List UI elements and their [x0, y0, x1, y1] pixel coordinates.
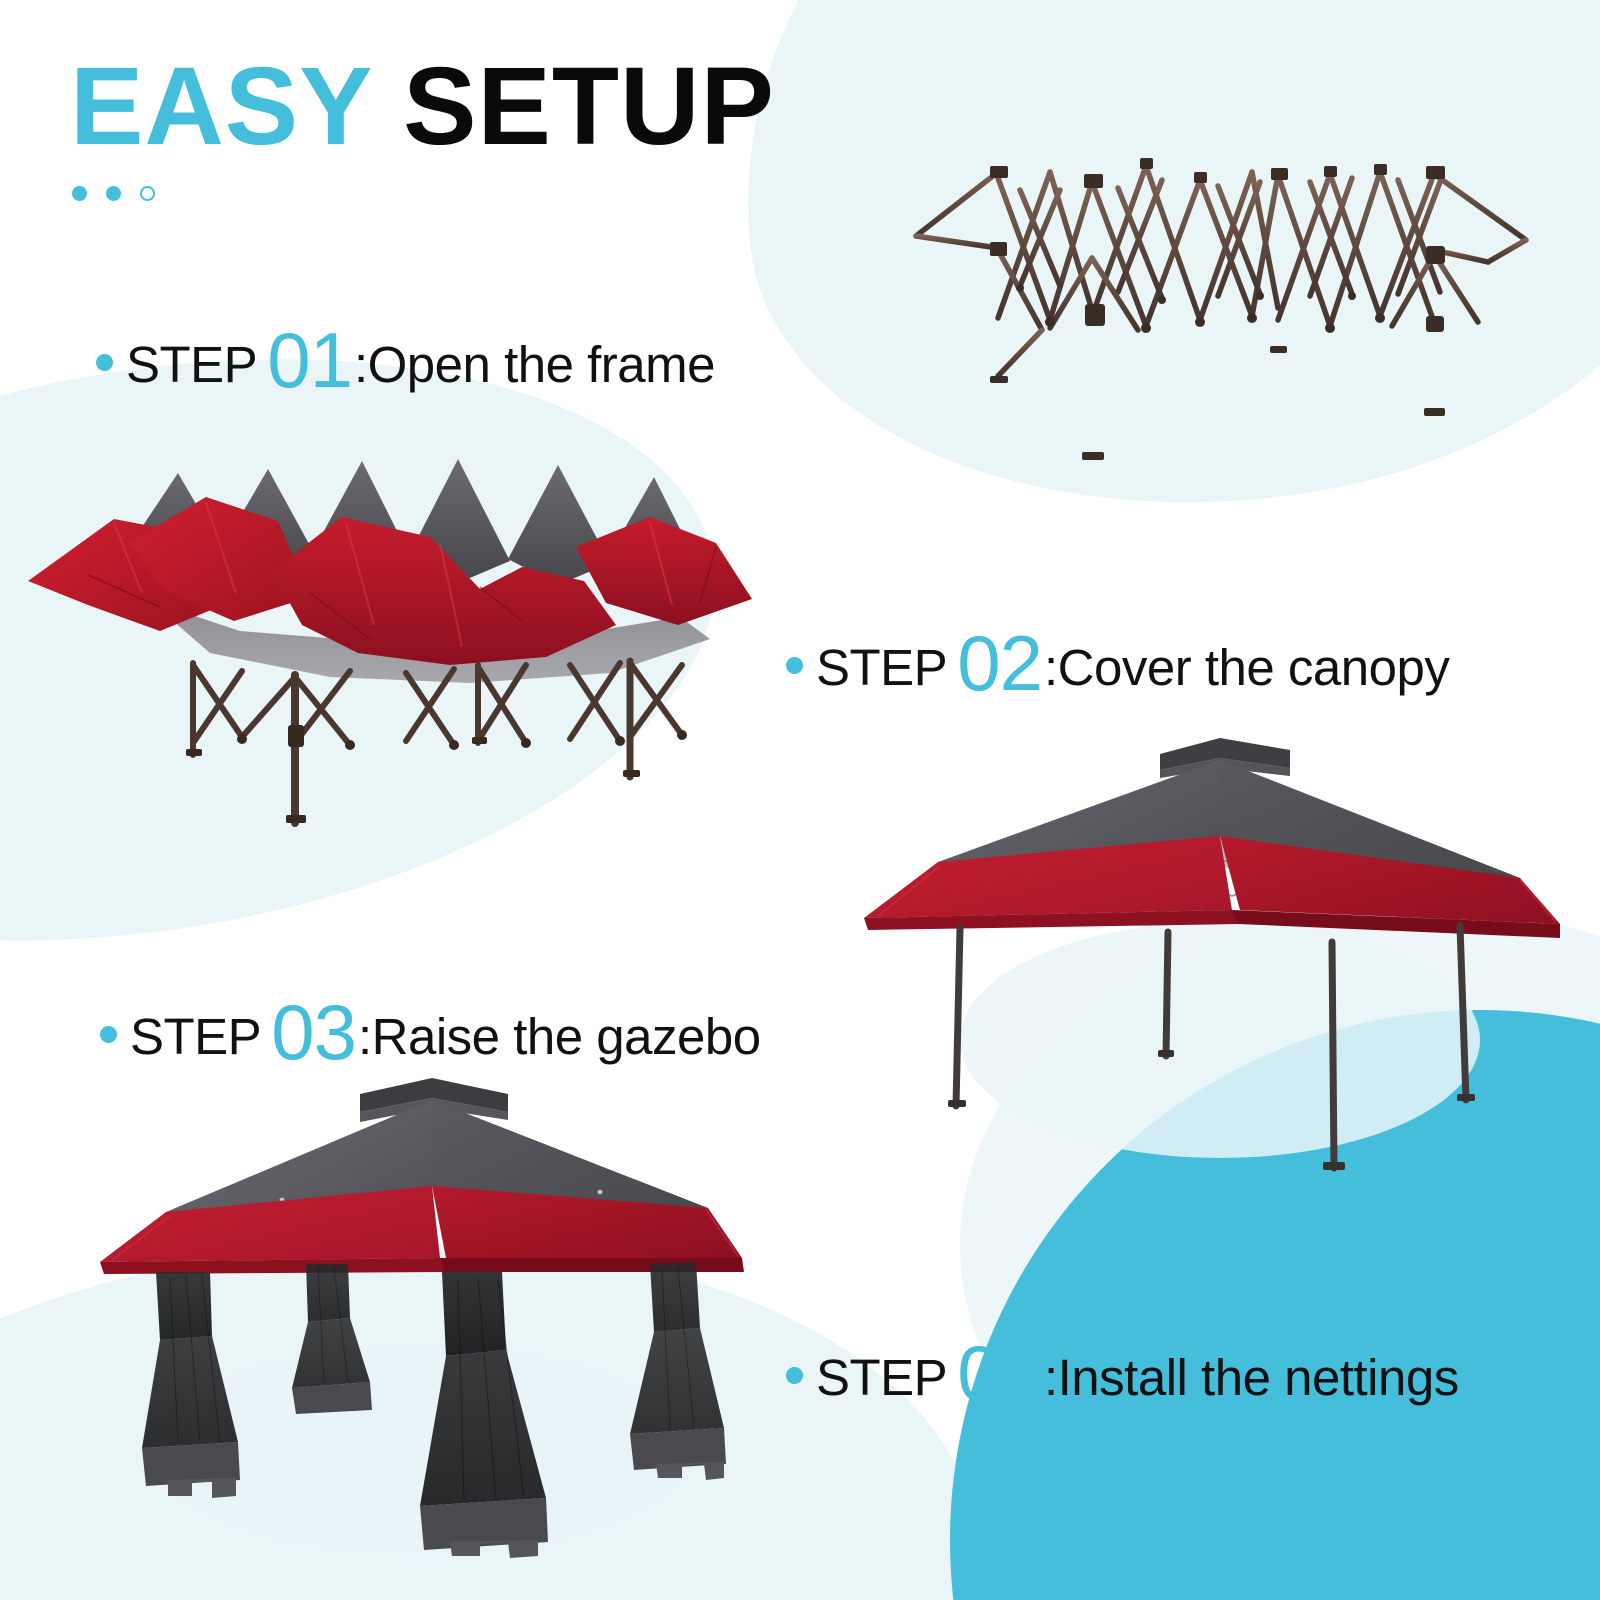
- dot-filled-2: [106, 186, 121, 201]
- step-number-01: 01: [267, 329, 352, 391]
- step-label-01: STEP: [126, 339, 257, 390]
- step-separator-04: :: [1044, 1352, 1058, 1403]
- infographic-page: EASY SETUP STEP 01 : Open the frame STEP…: [0, 0, 1600, 1600]
- illustration-gazebo-frame: [900, 130, 1560, 460]
- illustration-gazebo-with-nettings: [60, 1050, 790, 1560]
- illustration-gazebo-raised: [820, 710, 1580, 1180]
- title-plain-word: SETUP: [372, 45, 775, 168]
- step-caption-04: STEP 04 : Install the nettings: [786, 1337, 1459, 1403]
- page-title: EASY SETUP: [70, 52, 775, 162]
- step-number-04: 04: [957, 1342, 1042, 1404]
- title-dot-decoration: [72, 186, 155, 201]
- step-caption-01: STEP 01 : Open the frame: [96, 324, 715, 390]
- step-label-04: STEP: [816, 1352, 947, 1403]
- step-text-02: Cover the canopy: [1058, 642, 1450, 693]
- step-number-02: 02: [957, 632, 1042, 694]
- bullet-icon: [100, 1026, 117, 1043]
- illustration-canopy-draped: [10, 425, 820, 855]
- dot-filled-1: [72, 186, 87, 201]
- step-separator-02: :: [1044, 642, 1058, 693]
- dot-hollow-3: [140, 186, 155, 201]
- step-separator-01: :: [354, 339, 368, 390]
- step-text-04: Install the nettings: [1058, 1352, 1459, 1403]
- step-text-01: Open the frame: [368, 339, 715, 390]
- step-caption-02: STEP 02 : Cover the canopy: [786, 627, 1449, 693]
- title-accent-word: EASY: [70, 45, 372, 168]
- bullet-icon: [96, 354, 113, 371]
- step-label-02: STEP: [816, 642, 947, 693]
